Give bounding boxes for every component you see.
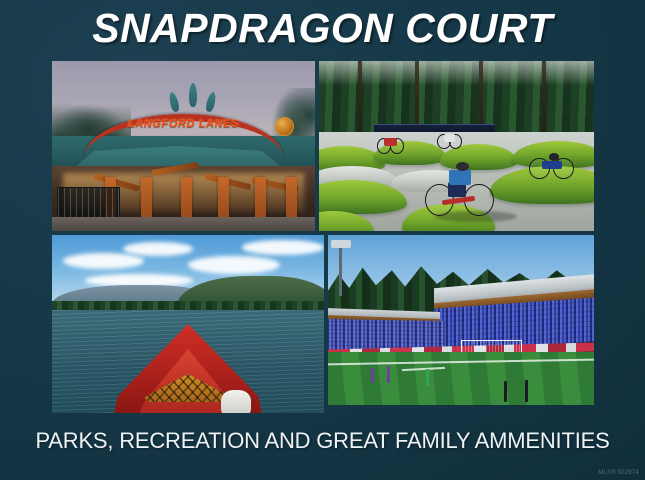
bowling-pin-icon <box>189 83 197 107</box>
pump-track-photo <box>319 61 594 231</box>
cloud <box>242 240 324 254</box>
stadium-photo <box>328 235 594 405</box>
langford-lanes-sign: LANGFORD LANES <box>89 114 278 141</box>
stadium-illustration <box>328 235 594 405</box>
floodlight-tower <box>339 245 342 296</box>
kayak-lake-photo <box>52 235 324 413</box>
cyclist-right <box>528 143 575 180</box>
page-title: SNAPDRAGON COURT <box>0 2 645 54</box>
player <box>371 368 374 383</box>
mls-watermark: MLS® 922974 <box>598 470 639 476</box>
slide-canvas: SNAPDRAGON COURT LANGFORD LANES <box>0 0 645 480</box>
tree-trunk <box>358 61 362 138</box>
cyclist-distant <box>377 134 405 154</box>
cloud <box>63 253 145 269</box>
stowed-gear <box>221 390 251 413</box>
bowling-alley-photo: LANGFORD LANES <box>52 61 315 231</box>
bowling-ball-icon <box>275 117 294 136</box>
cyclist-foreground <box>424 160 496 218</box>
rider-helmet <box>549 153 559 160</box>
pavement <box>52 217 315 231</box>
player <box>387 366 390 383</box>
cyclist-distant <box>437 131 462 150</box>
rider-torso <box>444 134 455 141</box>
rider-torso <box>449 170 470 185</box>
rider-torso <box>542 161 562 169</box>
goalkeeper <box>426 369 429 386</box>
photo-grid: LANGFORD LANES <box>52 61 594 413</box>
pump-track-illustration <box>319 61 594 231</box>
slide-subtitle: PARKS, RECREATION AND GREAT FAMILY AMMEN… <box>0 428 645 454</box>
rider-torso <box>384 138 396 146</box>
kayak-lake-illustration <box>52 235 324 413</box>
tree-trunk <box>542 61 546 138</box>
player <box>504 381 507 401</box>
bowling-alley-illustration: LANGFORD LANES <box>52 61 315 231</box>
player <box>525 380 528 402</box>
